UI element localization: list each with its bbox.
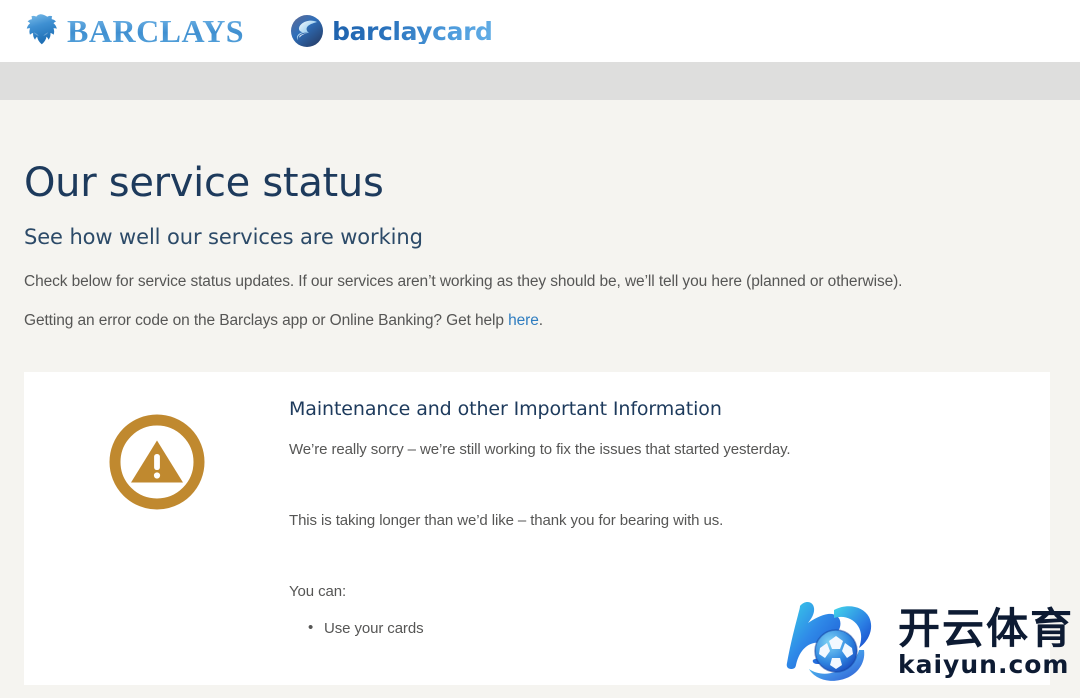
list-item: Use your cards [308,618,790,639]
barclays-logo-link[interactable]: BARCLAYS [24,13,244,49]
intro-paragraph-2: Getting an error code on the Barclays ap… [24,293,1056,332]
alert-list-intro: You can: [289,531,790,602]
alert-body: Maintenance and other Important Informat… [289,398,830,639]
barclaycard-wordmark: barclaycard [332,19,492,44]
page-subtitle: See how well our services are working [24,205,1056,250]
barclays-wordmark: BARCLAYS [67,15,244,47]
site-header: BARCLAYS [0,0,1080,62]
intro-text-after-link: . [539,312,543,329]
alert-icon-column [24,398,289,510]
alert-paragraph-1: We’re really sorry – we’re still working… [289,421,790,460]
get-help-here-link[interactable]: here [508,312,539,329]
barclaycard-logo-link[interactable]: barclaycard [290,14,492,48]
warning-triangle-in-circle-icon [109,414,205,510]
alert-paragraph-2: This is taking longer than we’d like – t… [289,460,790,531]
alert-heading: Maintenance and other Important Informat… [289,398,790,421]
main-content: Our service status See how well our serv… [0,100,1080,685]
intro-paragraph-1: Check below for service status updates. … [24,250,1056,293]
alert-capability-list: Use your cards [289,602,790,639]
barclays-eagle-icon [24,13,58,49]
page-title: Our service status [24,100,1056,205]
navigation-band [0,62,1080,100]
barclaycard-swirl-icon [290,14,324,48]
intro-text-before-link: Getting an error code on the Barclays ap… [24,312,508,329]
service-status-alert-card: Maintenance and other Important Informat… [24,372,1050,685]
